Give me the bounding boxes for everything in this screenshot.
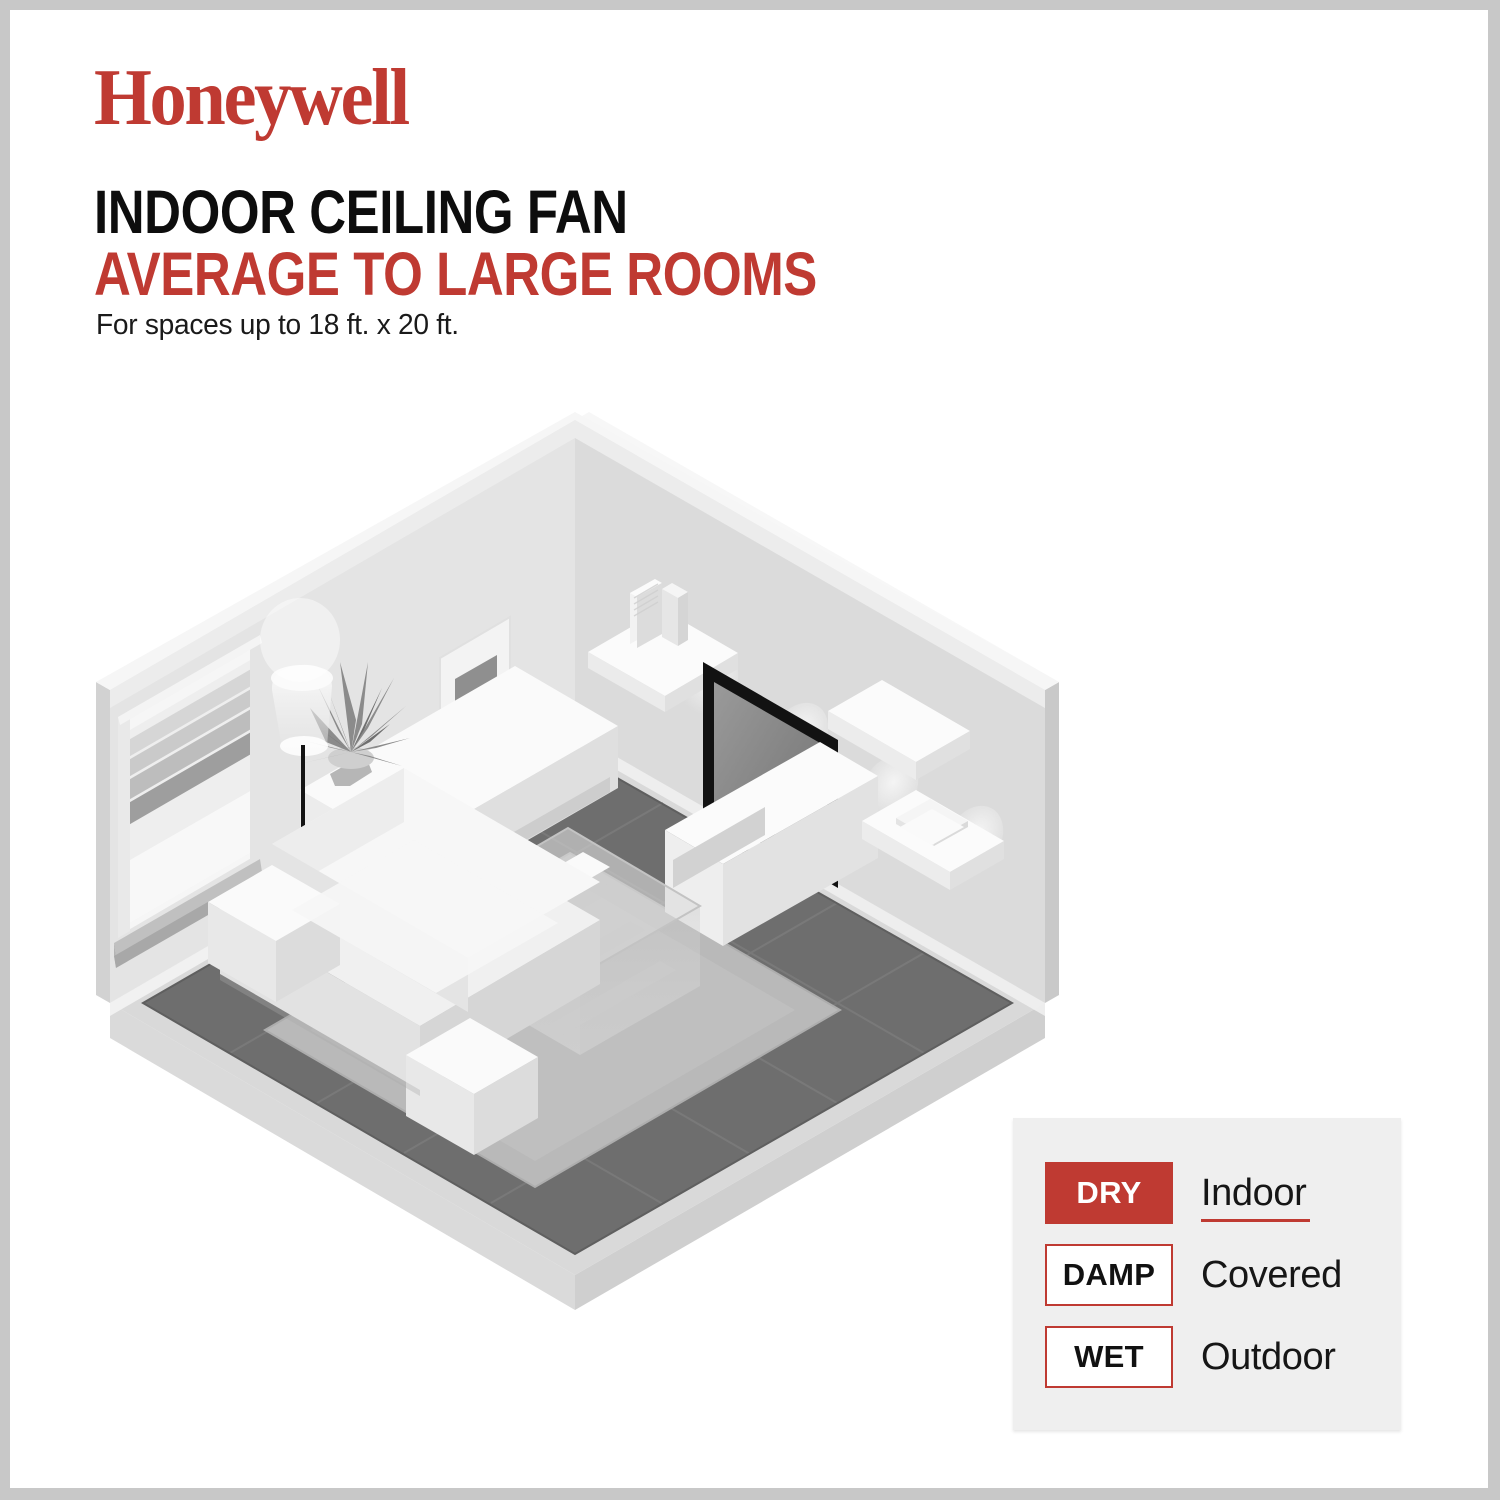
legend-row-dry[interactable]: DRY Indoor: [1045, 1162, 1306, 1224]
legend-label-outdoor: Outdoor: [1201, 1336, 1336, 1378]
wet-rating-legend: DRY Indoor DAMP Covered WET Outdoor: [1013, 1118, 1401, 1430]
legend-row-damp[interactable]: DAMP Covered: [1045, 1244, 1342, 1306]
page-title-line2: AVERAGE TO LARGE ROOMS: [94, 244, 817, 305]
legend-label-indoor: Indoor: [1201, 1172, 1306, 1214]
page-title-line1: INDOOR CEILING FAN: [94, 182, 628, 243]
badge-dry: DRY: [1045, 1162, 1173, 1224]
legend-label-covered: Covered: [1201, 1254, 1342, 1296]
badge-damp: DAMP: [1045, 1244, 1173, 1306]
badge-wet: WET: [1045, 1326, 1173, 1388]
legend-row-wet[interactable]: WET Outdoor: [1045, 1326, 1336, 1388]
page-subtitle: For spaces up to 18 ft. x 20 ft.: [96, 308, 459, 342]
honeywell-logo: Honeywell: [94, 58, 408, 138]
isometric-living-room-illustration: [10, 390, 1110, 1310]
page-canvas: Honeywell INDOOR CEILING FAN AVERAGE TO …: [10, 10, 1488, 1488]
